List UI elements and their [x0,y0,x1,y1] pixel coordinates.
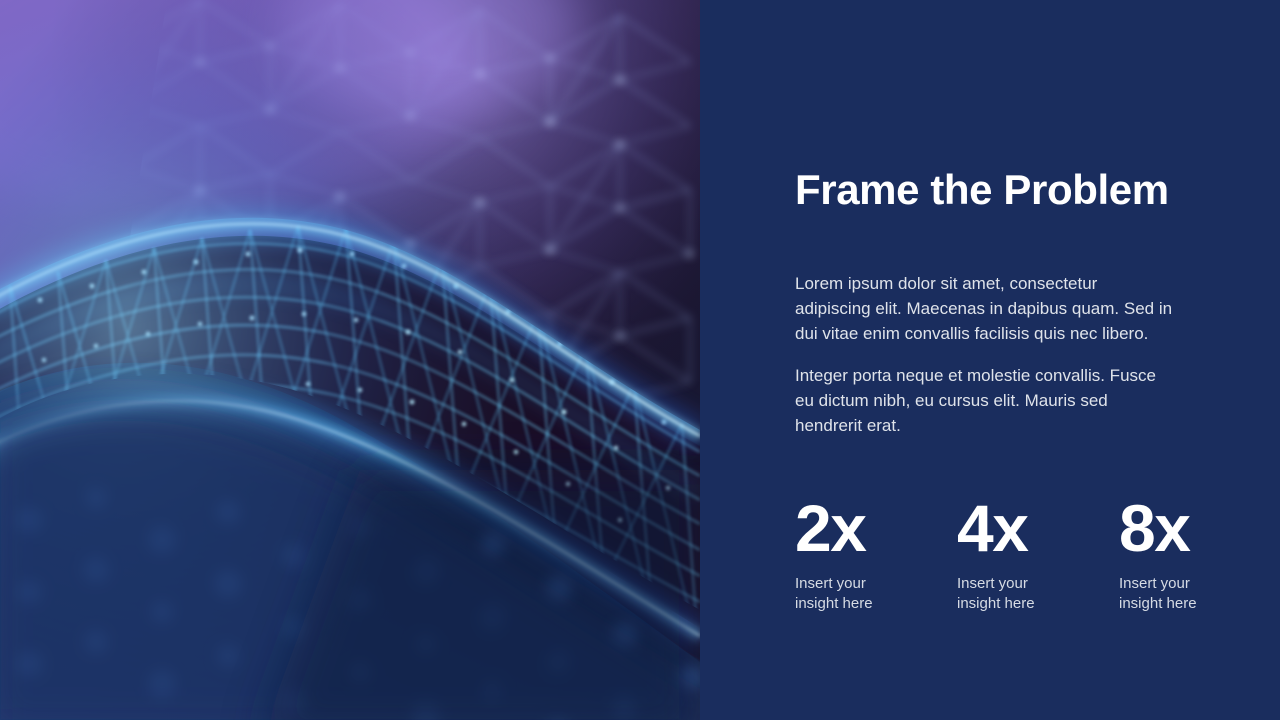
stat-label-2: Insert your insight here [957,574,1057,614]
content-panel: Frame the Problem Lorem ipsum dolor sit … [700,0,1280,720]
stat-item-1: 2x Insert your insight here [795,497,957,614]
stat-value-2: 4x [957,497,1119,560]
page-title: Frame the Problem [795,168,1169,212]
stats-row: 2x Insert your insight here 4x Insert yo… [795,497,1225,614]
body-copy: Lorem ipsum dolor sit amet, consectetur … [795,272,1177,439]
body-paragraph-1: Lorem ipsum dolor sit amet, consectetur … [795,272,1177,346]
body-paragraph-2: Integer porta neque et molestie convalli… [795,364,1177,438]
abstract-network-mesh-image [0,0,700,720]
stat-value-3: 8x [1119,497,1280,560]
stat-item-2: 4x Insert your insight here [957,497,1119,614]
mesh-graphic [0,0,700,720]
stat-item-3: 8x Insert your insight here [1119,497,1280,614]
stat-label-3: Insert your insight here [1119,574,1219,614]
stat-value-1: 2x [795,497,957,560]
slide: Frame the Problem Lorem ipsum dolor sit … [0,0,1280,720]
stat-label-1: Insert your insight here [795,574,895,614]
